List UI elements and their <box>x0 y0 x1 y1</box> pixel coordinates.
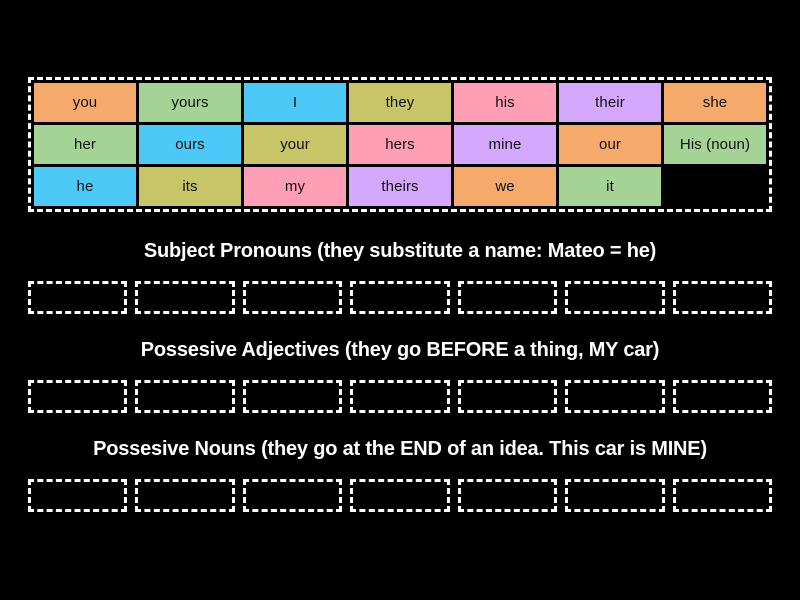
word-tile[interactable]: her <box>34 125 136 164</box>
word-tile[interactable]: hers <box>349 125 451 164</box>
drop-slot[interactable] <box>458 479 557 512</box>
drop-slot[interactable] <box>565 479 664 512</box>
word-tile[interactable]: his <box>454 83 556 122</box>
word-tile[interactable]: we <box>454 167 556 206</box>
word-tile[interactable]: theirs <box>349 167 451 206</box>
drop-slot[interactable] <box>28 380 127 413</box>
word-tile[interactable]: yours <box>139 83 241 122</box>
drop-slot[interactable] <box>565 380 664 413</box>
drop-slot[interactable] <box>565 281 664 314</box>
drop-slot[interactable] <box>28 479 127 512</box>
drop-row-possessive-adjectives <box>28 380 772 413</box>
category-heading-possessive-nouns: Possesive Nouns (they go at the END of a… <box>0 438 800 461</box>
drop-slot[interactable] <box>243 281 342 314</box>
drop-row-subject-pronouns <box>28 281 772 314</box>
word-tile-grid: you yours I they his their she her ours … <box>34 83 766 206</box>
drop-row-possessive-nouns <box>28 479 772 512</box>
word-tile[interactable]: your <box>244 125 346 164</box>
category-heading-subject-pronouns: Subject Pronouns (they substitute a name… <box>0 240 800 263</box>
word-tile[interactable]: their <box>559 83 661 122</box>
word-tile[interactable]: mine <box>454 125 556 164</box>
word-tile-placeholder <box>664 167 766 206</box>
drop-slot[interactable] <box>350 479 449 512</box>
drop-slot[interactable] <box>135 380 234 413</box>
word-tile[interactable]: ours <box>139 125 241 164</box>
word-tile[interactable]: she <box>664 83 766 122</box>
drop-slot[interactable] <box>243 479 342 512</box>
word-tile[interactable]: my <box>244 167 346 206</box>
drop-slot[interactable] <box>673 380 772 413</box>
word-tile[interactable]: our <box>559 125 661 164</box>
category-heading-possessive-adjectives: Possesive Adjectives (they go BEFORE a t… <box>0 339 800 362</box>
drop-slot[interactable] <box>458 380 557 413</box>
drop-slot[interactable] <box>350 281 449 314</box>
word-tile[interactable]: I <box>244 83 346 122</box>
word-tile[interactable]: you <box>34 83 136 122</box>
drop-slot[interactable] <box>28 281 127 314</box>
word-tile[interactable]: they <box>349 83 451 122</box>
word-bank-container: you yours I they his their she her ours … <box>28 77 772 212</box>
word-tile[interactable]: he <box>34 167 136 206</box>
drop-slot[interactable] <box>673 281 772 314</box>
drop-slot[interactable] <box>458 281 557 314</box>
drop-slot[interactable] <box>673 479 772 512</box>
drop-slot[interactable] <box>243 380 342 413</box>
word-tile[interactable]: its <box>139 167 241 206</box>
word-tile[interactable]: His (noun) <box>664 125 766 164</box>
word-tile[interactable]: it <box>559 167 661 206</box>
drop-slot[interactable] <box>135 281 234 314</box>
drop-slot[interactable] <box>350 380 449 413</box>
drop-slot[interactable] <box>135 479 234 512</box>
